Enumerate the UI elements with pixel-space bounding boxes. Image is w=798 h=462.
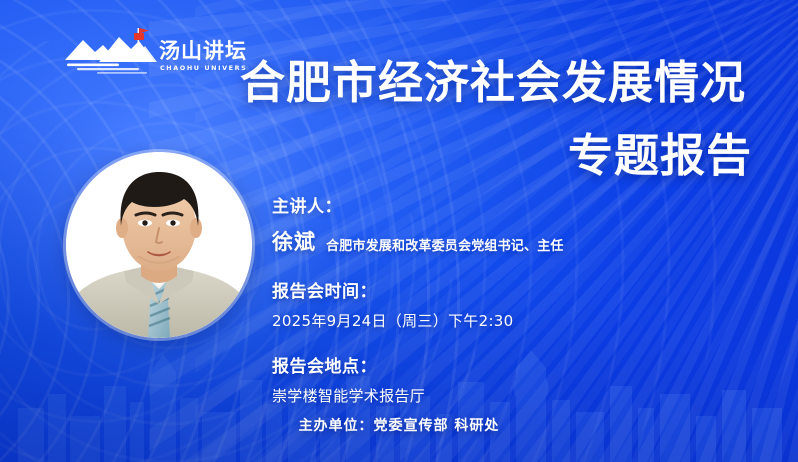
event-details: 主讲人： 徐斌 合肥市发展和改革委员会党组书记、主任 报告会时间： 2025年9… bbox=[272, 192, 702, 406]
svg-text:CHAOHU UNIVERSITY: CHAOHU UNIVERSITY bbox=[160, 64, 248, 72]
time-value: 2025年9月24日（周三）下午2:30 bbox=[272, 310, 702, 331]
poster-title-line1: 合肥市经济社会发展情况 bbox=[240, 60, 746, 105]
poster-title-line2: 专题报告 bbox=[568, 133, 752, 178]
poster-canvas: 汤山讲坛 CHAOHU UNIVERSITY bbox=[0, 0, 798, 462]
time-label: 报告会时间： bbox=[272, 277, 702, 302]
organizer-footer: 主办单位：党委宣传部 科研处 bbox=[0, 415, 798, 435]
venue-group: 报告会地点： 崇学楼智能学术报告厅 bbox=[272, 352, 702, 406]
speaker-label: 主讲人： bbox=[272, 192, 702, 217]
mountain-lake-logo-icon: 汤山讲坛 CHAOHU UNIVERSITY bbox=[63, 24, 248, 80]
svg-text:汤山讲坛: 汤山讲坛 bbox=[159, 39, 247, 63]
speaker-portrait-icon bbox=[66, 152, 252, 338]
speaker-position: 合肥市发展和改革委员会党组书记、主任 bbox=[326, 235, 564, 256]
speaker-portrait-avatar bbox=[66, 152, 252, 338]
venue-value: 崇学楼智能学术报告厅 bbox=[272, 385, 702, 406]
time-group: 报告会时间： 2025年9月24日（周三）下午2:30 bbox=[272, 277, 702, 331]
speaker-name: 徐斌 bbox=[272, 226, 316, 256]
speaker-row: 徐斌 合肥市发展和改革委员会党组书记、主任 bbox=[272, 226, 702, 256]
brand-logo: 汤山讲坛 CHAOHU UNIVERSITY bbox=[63, 24, 248, 80]
venue-label: 报告会地点： bbox=[272, 352, 702, 377]
